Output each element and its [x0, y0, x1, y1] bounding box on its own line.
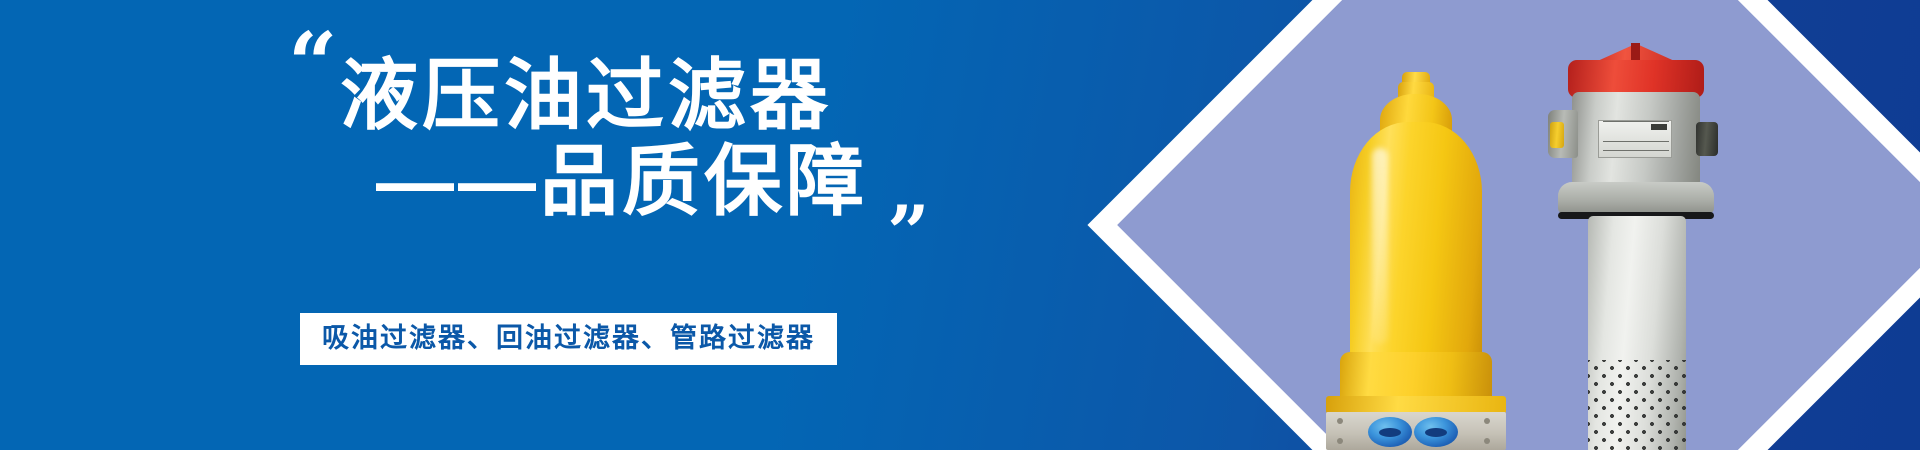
yellow-pressure-filter-image	[1318, 60, 1514, 450]
nameplate-line	[1603, 121, 1669, 122]
quote-close-mark: „	[888, 154, 928, 228]
subtitle-box: 吸油过滤器、回油过滤器、管路过滤器	[300, 313, 837, 365]
headline: 液压油过滤器 ——品质保障 „	[0, 52, 1020, 224]
filter-bolt	[1484, 418, 1490, 424]
promo-banner: “ 液压油过滤器 ——品质保障 „ 吸油过滤器、回油过滤器、管路过滤器	[0, 0, 1920, 450]
filter-port-right	[1414, 417, 1458, 447]
filter-nameplate	[1598, 120, 1672, 158]
filter-bolt	[1337, 418, 1343, 424]
nameplate-line	[1603, 150, 1669, 151]
diamond-inner-shape	[1117, 0, 1920, 450]
headline-line-2-wrap: ——品质保障 „	[0, 138, 1020, 224]
filter-mounting-flange	[1558, 182, 1714, 214]
filter-port-left	[1368, 417, 1412, 447]
headline-line-2: ——品质保障	[376, 137, 868, 225]
filter-lug-yellow-insert	[1550, 122, 1564, 148]
headline-line-1: 液压油过滤器	[0, 52, 1020, 138]
nameplate-mark	[1651, 124, 1667, 130]
nameplate-line	[1603, 141, 1669, 142]
filter-perforation-pattern	[1588, 360, 1686, 450]
filter-flare	[1340, 352, 1492, 402]
filter-side-plug	[1696, 122, 1718, 156]
banner-copy: “ 液压油过滤器 ——品质保障 „ 吸油过滤器、回油过滤器、管路过滤器	[0, 0, 1020, 450]
return-line-filter-image	[1530, 30, 1740, 450]
filter-bolt	[1484, 438, 1490, 444]
subtitle-text: 吸油过滤器、回油过滤器、管路过滤器	[322, 322, 815, 354]
filter-bolt	[1337, 438, 1343, 444]
